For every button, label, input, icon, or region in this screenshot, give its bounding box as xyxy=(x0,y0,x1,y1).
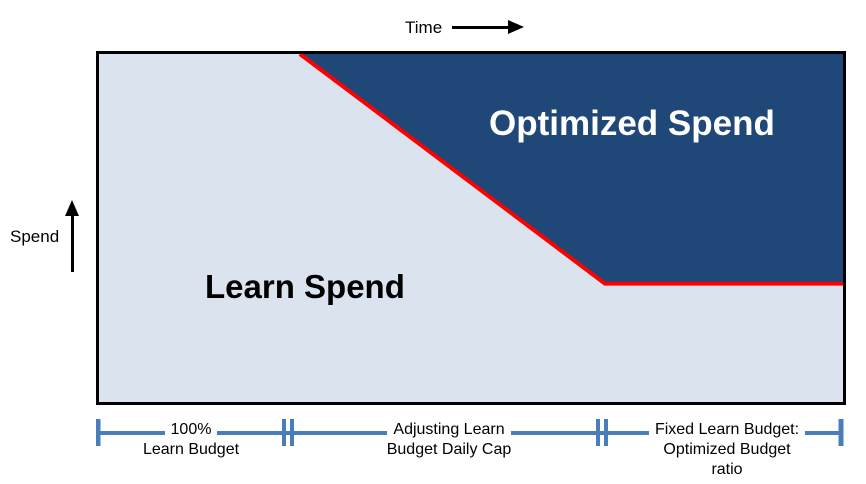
phase-label-adjusting-learn-budget-daily-cap: Adjusting Learn Budget Daily Cap xyxy=(304,420,594,460)
phase-label-line3: ratio xyxy=(612,460,842,480)
time-axis-label: Time xyxy=(405,19,442,36)
arrow-right-head xyxy=(508,20,524,34)
phase-label-line2: Learn Budget xyxy=(98,440,284,460)
phase-label-line1: 100% xyxy=(165,420,218,440)
phase-label-line1: Fixed Learn Budget: xyxy=(649,420,805,440)
arrow-right-icon xyxy=(452,20,524,34)
diagram-canvas: Time Spend Optimized Spend Learn Spend 1… xyxy=(0,0,866,484)
arrow-up-shaft xyxy=(71,212,74,272)
phase-bracket-axis: 100% Learn Budget Adjusting Learn Budget… xyxy=(96,412,846,484)
learn-spend-label: Learn Spend xyxy=(205,270,405,303)
arrow-up-head xyxy=(65,200,79,216)
phase-label-line2: Budget Daily Cap xyxy=(304,440,594,460)
arrow-right-shaft xyxy=(452,26,512,29)
phase-label-line2: Optimized Budget xyxy=(612,440,842,460)
phase-label-line1: Adjusting Learn xyxy=(387,420,510,440)
spend-axis: Spend xyxy=(10,198,94,274)
phase-label-100-percent-learn-budget: 100% Learn Budget xyxy=(98,420,284,460)
arrow-up-icon xyxy=(65,200,79,272)
phase-label-fixed-learn-budget-optimized-budget-ratio: Fixed Learn Budget: Optimized Budget rat… xyxy=(612,420,842,480)
spend-axis-label: Spend xyxy=(10,228,59,245)
plot-area: Optimized Spend Learn Spend xyxy=(96,51,846,405)
time-axis: Time xyxy=(405,14,524,40)
optimized-spend-label: Optimized Spend xyxy=(489,106,775,141)
